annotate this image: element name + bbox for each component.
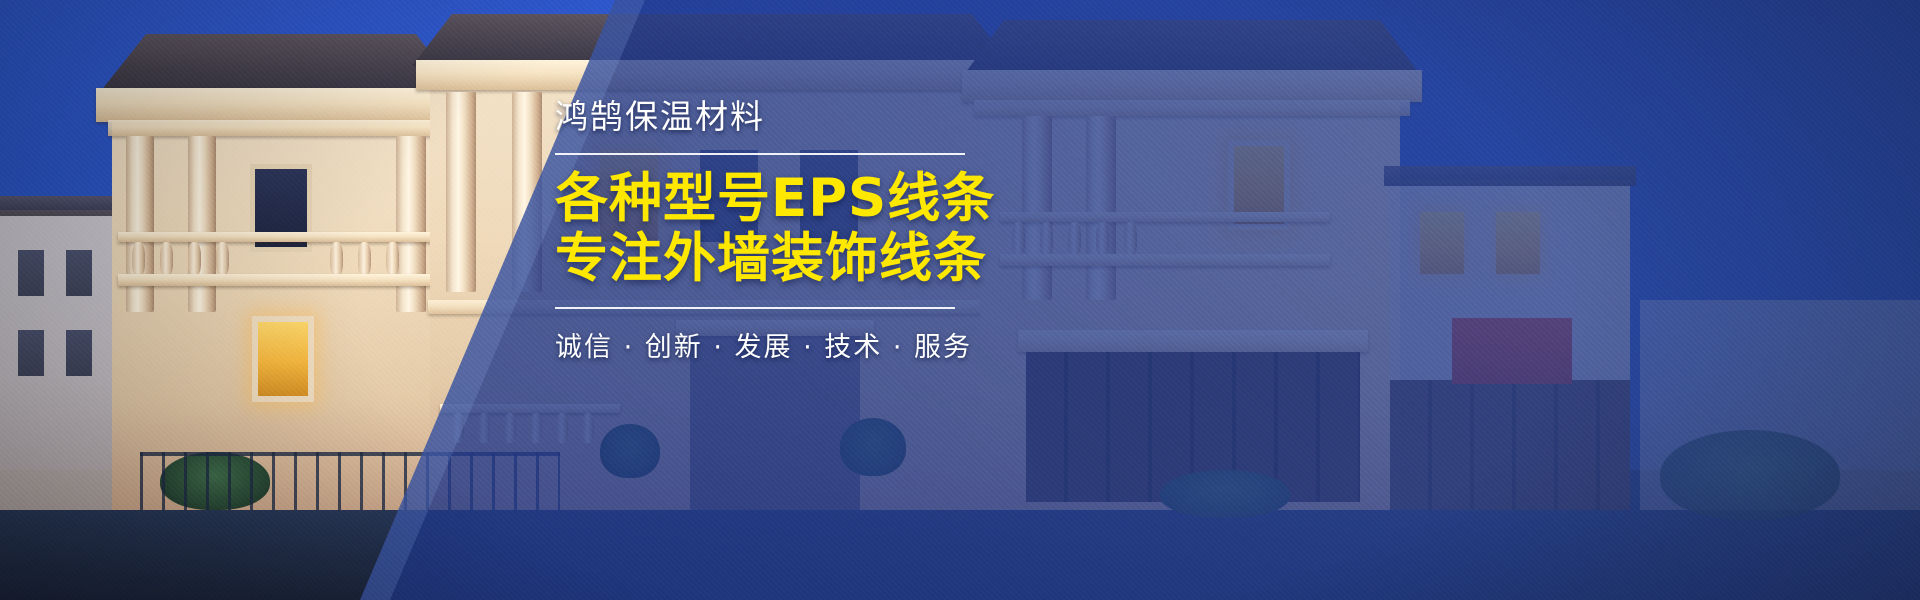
banner-copy: 鸿鹄保温材料 各种型号EPS线条 专注外墙装饰线条 诚信 · 创新 · 发展 ·… [555,96,1025,364]
divider-bottom [555,307,955,309]
promo-banner: 鸿鹄保温材料 各种型号EPS线条 专注外墙装饰线条 诚信 · 创新 · 发展 ·… [0,0,1920,600]
headline-line-2: 专注外墙装饰线条 [555,229,1025,289]
divider-top [555,153,965,155]
brand-name: 鸿鹄保温材料 [555,96,1025,137]
tagline: 诚信 · 创新 · 发展 · 技术 · 服务 [555,325,1025,364]
headline-line-1: 各种型号EPS线条 [555,169,1025,229]
